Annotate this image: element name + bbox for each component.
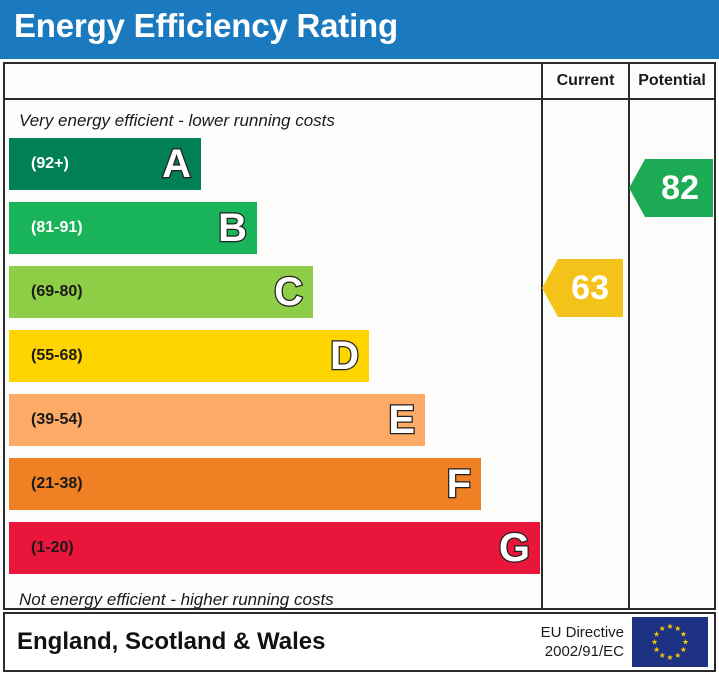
column-header-potential: Potential <box>628 64 714 98</box>
band-f: (21-38) F <box>9 458 481 510</box>
band-c-letter: C <box>274 272 303 312</box>
band-b-letter: B <box>218 208 247 248</box>
band-e: (39-54) E <box>9 394 425 446</box>
band-d-letter: D <box>330 336 359 376</box>
column-divider-current <box>541 100 543 610</box>
band-e-range: (39-54) <box>31 411 83 429</box>
caption-very-efficient: Very energy efficient - lower running co… <box>19 111 335 131</box>
chart-footer: England, Scotland & Wales EU Directive 2… <box>3 612 716 672</box>
band-c-range: (69-80) <box>31 283 83 301</box>
potential-rating-badge: 82 <box>629 159 713 217</box>
band-g: (1-20) G <box>9 522 540 574</box>
band-d: (55-68) D <box>9 330 369 382</box>
band-g-letter: G <box>499 528 530 568</box>
rating-table: Current Potential Very energy efficient … <box>3 62 716 610</box>
eu-flag-icon <box>632 617 708 667</box>
footer-directive-line2: 2002/91/EC <box>541 642 624 661</box>
footer-directive: EU Directive 2002/91/EC <box>541 623 624 661</box>
band-b-range: (81-91) <box>31 219 83 237</box>
band-d-range: (55-68) <box>31 347 83 365</box>
band-a-range: (92+) <box>31 155 69 173</box>
band-a-letter: A <box>162 144 191 184</box>
energy-efficiency-rating-chart: Energy Efficiency Rating Current Potenti… <box>0 0 719 675</box>
chart-header-bar: Energy Efficiency Rating <box>0 0 719 59</box>
footer-region-label: England, Scotland & Wales <box>17 628 325 656</box>
band-g-range: (1-20) <box>31 539 74 557</box>
column-header-current: Current <box>541 64 628 98</box>
column-divider-potential <box>628 100 630 610</box>
band-f-letter: F <box>447 464 471 504</box>
current-rating-badge: 63 <box>542 259 623 317</box>
band-b: (81-91) B <box>9 202 257 254</box>
column-header-row: Current Potential <box>5 64 714 100</box>
footer-directive-line1: EU Directive <box>541 623 624 642</box>
page-title: Energy Efficiency Rating <box>14 7 398 45</box>
rating-bands: (92+) A (81-91) B (69-80) C (55-68) D (3… <box>5 138 541 598</box>
band-c: (69-80) C <box>9 266 313 318</box>
band-a: (92+) A <box>9 138 201 190</box>
band-e-letter: E <box>388 400 415 440</box>
band-f-range: (21-38) <box>31 475 83 493</box>
